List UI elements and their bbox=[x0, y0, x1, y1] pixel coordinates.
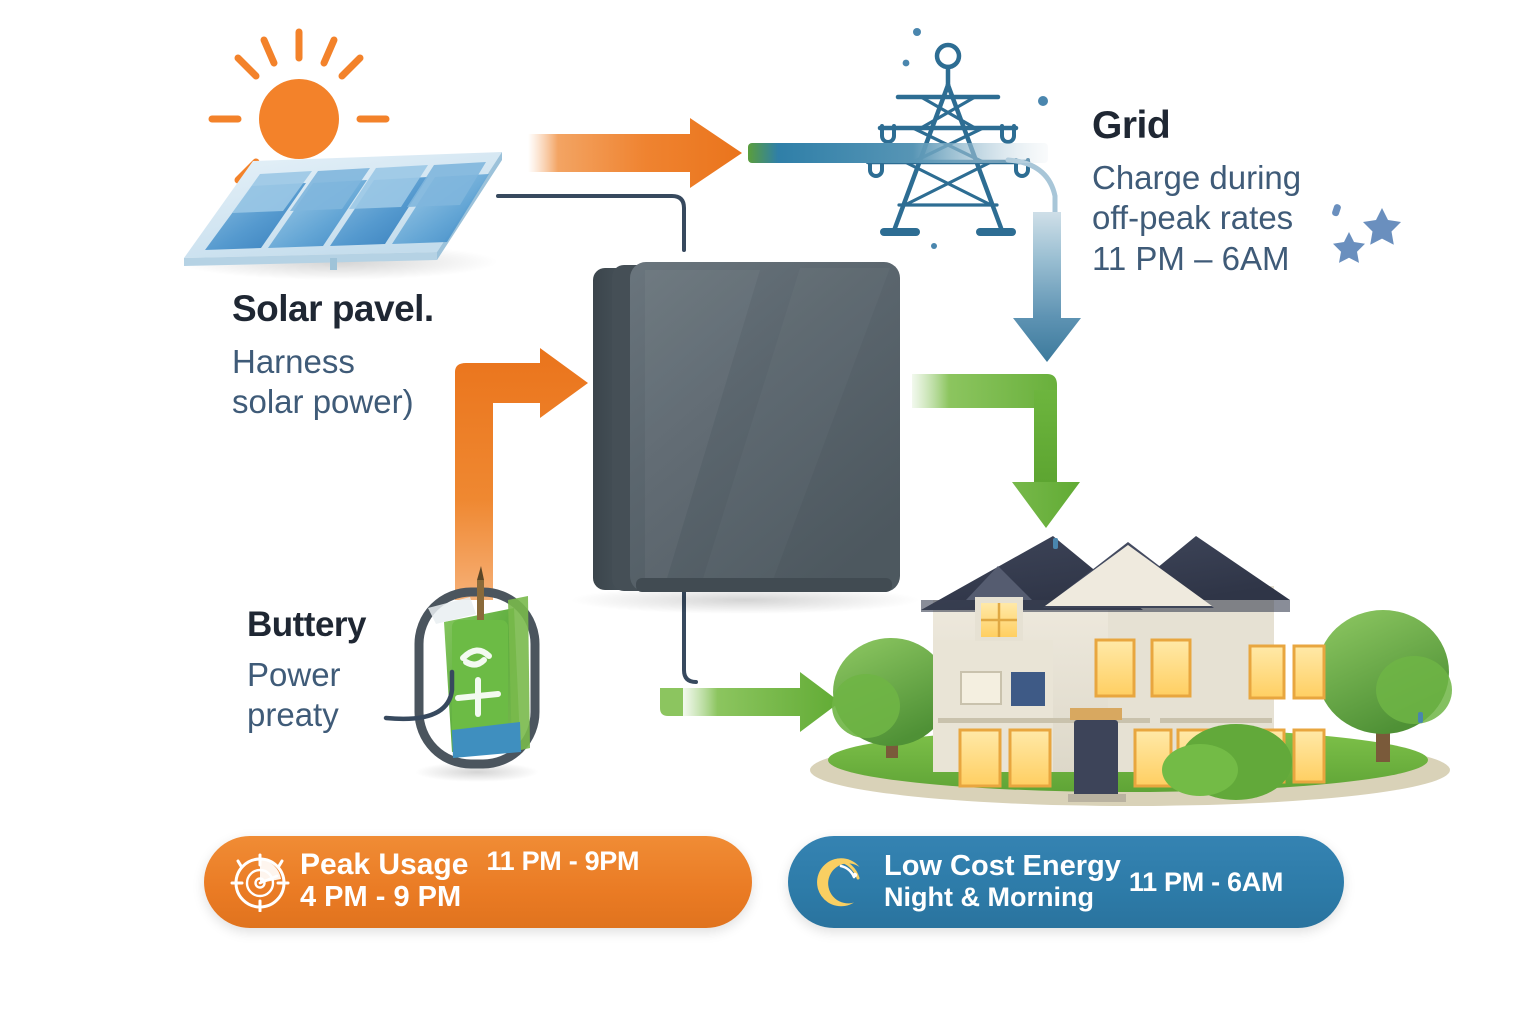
flow-arrow-solar-to-grid bbox=[528, 118, 742, 188]
badge-peak-hours: 4 PM - 9 PM bbox=[300, 881, 468, 913]
grid-subtitle: Charge during off-peak rates 11 PM – 6AM bbox=[1092, 158, 1301, 279]
badge-low-time: 11 PM - 6AM bbox=[1129, 867, 1283, 898]
battery-title: Buttery bbox=[247, 605, 366, 645]
battery-label-group: Buttery Power preaty bbox=[247, 605, 366, 736]
badge-peak-text: Peak Usage 4 PM - 9 PM bbox=[300, 850, 468, 913]
flow-arrow-battery-to-unit bbox=[455, 348, 588, 600]
badge-peak-title: Peak Usage bbox=[300, 850, 468, 881]
badge-low-cost-energy[interactable]: Low Cost Energy Night & Morning 11 PM - … bbox=[788, 836, 1344, 928]
badge-peak-usage[interactable]: Peak Usage 4 PM - 9 PM 11 PM - 9PM bbox=[204, 836, 752, 928]
solar-title: Solar pavel. bbox=[232, 288, 434, 330]
badge-low-subtitle: Night & Morning bbox=[884, 882, 1121, 912]
badge-low-title: Low Cost Energy bbox=[884, 852, 1121, 882]
front-door bbox=[1068, 708, 1126, 802]
transmission-tower-icon bbox=[868, 28, 1055, 249]
connector-solar-to-unit bbox=[498, 196, 684, 250]
home-battery-unit-icon bbox=[570, 262, 920, 614]
battery-cell-icon bbox=[415, 566, 539, 782]
grid-title: Grid bbox=[1092, 104, 1301, 148]
moon-icon bbox=[814, 852, 874, 912]
decorative-stars bbox=[1331, 203, 1401, 263]
battery-subtitle: Power preaty bbox=[247, 655, 366, 736]
grid-feed-bar bbox=[748, 143, 1048, 163]
solar-subtitle: Harness solar power) bbox=[232, 342, 434, 423]
diagram-canvas: Solar pavel. Harness solar power) Grid C… bbox=[0, 0, 1536, 1024]
badge-low-text: Low Cost Energy Night & Morning bbox=[884, 852, 1121, 912]
flow-arrow-unit-to-house-upper bbox=[912, 374, 1080, 528]
solar-panel-icon bbox=[178, 152, 502, 280]
house-icon bbox=[810, 536, 1452, 806]
solar-label-group: Solar pavel. Harness solar power) bbox=[232, 288, 434, 423]
grid-label-group: Grid Charge during off-peak rates 11 PM … bbox=[1092, 104, 1301, 279]
clock-gauge-icon bbox=[230, 852, 290, 912]
badge-peak-time: 11 PM - 9PM bbox=[486, 846, 639, 877]
flow-arrow-grid-down bbox=[1013, 212, 1081, 362]
